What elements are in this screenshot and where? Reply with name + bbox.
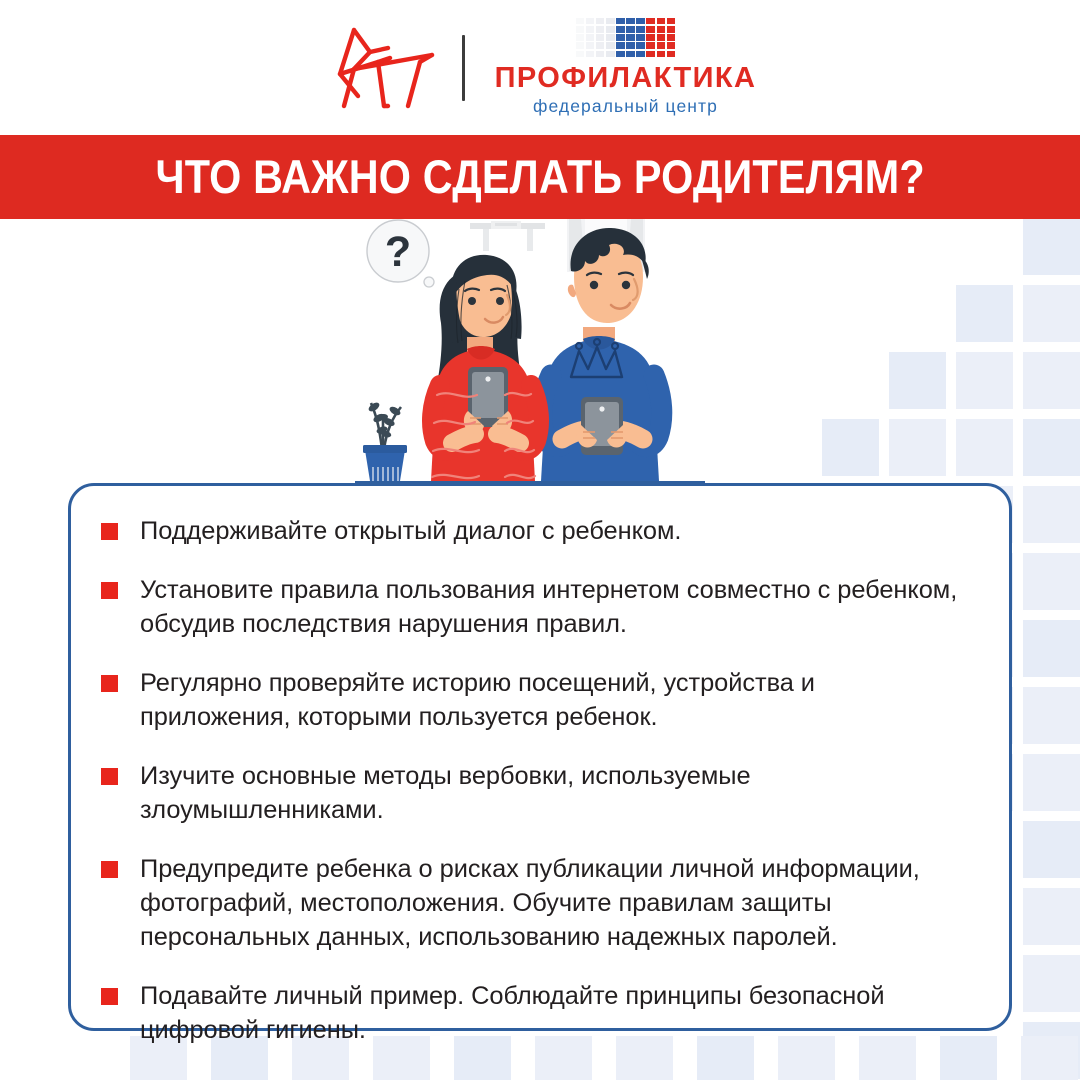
title-band: ЧТО ВАЖНО СДЕЛАТЬ РОДИТЕЛЯМ?	[0, 135, 1080, 219]
list-item-text: Установите правила пользования интернето…	[140, 573, 965, 641]
list-item-text: Изучите основные методы вербовки, исполь…	[140, 759, 965, 827]
thought-bubble: ?	[367, 220, 434, 287]
pattern-square	[956, 352, 1013, 409]
pattern-square	[1023, 754, 1080, 811]
bullet-square-icon	[101, 582, 118, 599]
logo-bar: ПРОФИЛАКТИКА федеральный центр	[0, 0, 1080, 135]
svg-text:?: ?	[385, 228, 411, 276]
list-item-text: Поддерживайте открытый диалог с ребенком…	[140, 514, 681, 548]
pattern-square	[889, 352, 946, 409]
illustration-graphic: ?	[355, 219, 705, 494]
bullet-square-icon	[101, 675, 118, 692]
pattern-square	[1023, 821, 1080, 878]
woman-figure	[431, 255, 539, 481]
horse-sculpture-mark-icon	[324, 22, 444, 114]
bullet-square-icon	[101, 988, 118, 1005]
pattern-square	[1023, 486, 1080, 543]
list-item: Изучите основные методы вербовки, исполь…	[101, 759, 965, 827]
list-item-text: Предупредите ребенка о рисках публикации…	[140, 852, 965, 954]
pattern-square	[956, 285, 1013, 342]
bullet-square-icon	[101, 861, 118, 878]
pattern-square	[1023, 687, 1080, 744]
list-item: Установите правила пользования интернето…	[101, 573, 965, 641]
pattern-square	[1023, 955, 1080, 1012]
list-item-text: Подавайте личный пример. Соблюдайте прин…	[140, 979, 965, 1047]
recommendations-list: Поддерживайте открытый диалог с ребенком…	[101, 514, 965, 1047]
pattern-square	[1023, 888, 1080, 945]
pattern-square	[1023, 218, 1080, 275]
parents-with-smartphones-illustration: ?	[355, 219, 705, 494]
page-title: ЧТО ВАЖНО СДЕЛАТЬ РОДИТЕЛЯМ?	[155, 152, 924, 202]
pattern-square	[822, 419, 879, 476]
pattern-square	[956, 419, 1013, 476]
pattern-square	[1023, 352, 1080, 409]
pattern-square	[1023, 620, 1080, 677]
man-figure	[541, 228, 662, 481]
logo-divider	[462, 35, 465, 101]
pattern-square	[889, 419, 946, 476]
bullet-square-icon	[101, 768, 118, 785]
list-item: Регулярно проверяйте историю посещений, …	[101, 666, 965, 734]
brand-lockup: ПРОФИЛАКТИКА федеральный центр	[495, 18, 757, 118]
flag-grid-mark-icon	[576, 18, 675, 58]
potted-plant	[363, 401, 407, 481]
list-item: Поддерживайте открытый диалог с ребенком…	[101, 514, 965, 548]
list-item: Предупредите ребенка о рисках публикации…	[101, 852, 965, 954]
recommendations-card: Поддерживайте открытый диалог с ребенком…	[68, 483, 1012, 1031]
pattern-square	[1023, 553, 1080, 610]
brand-subtitle: федеральный центр	[533, 96, 718, 117]
list-item: Подавайте личный пример. Соблюдайте прин…	[101, 979, 965, 1047]
pattern-square	[1021, 1036, 1078, 1080]
brand-name: ПРОФИЛАКТИКА	[495, 63, 757, 93]
list-item-text: Регулярно проверяйте историю посещений, …	[140, 666, 965, 734]
infographic-poster: ПРОФИЛАКТИКА федеральный центр ЧТО ВАЖНО…	[0, 0, 1080, 1080]
pattern-square	[1023, 285, 1080, 342]
pattern-square	[1023, 1022, 1080, 1079]
bullet-square-icon	[101, 523, 118, 540]
pattern-square	[1023, 419, 1080, 476]
